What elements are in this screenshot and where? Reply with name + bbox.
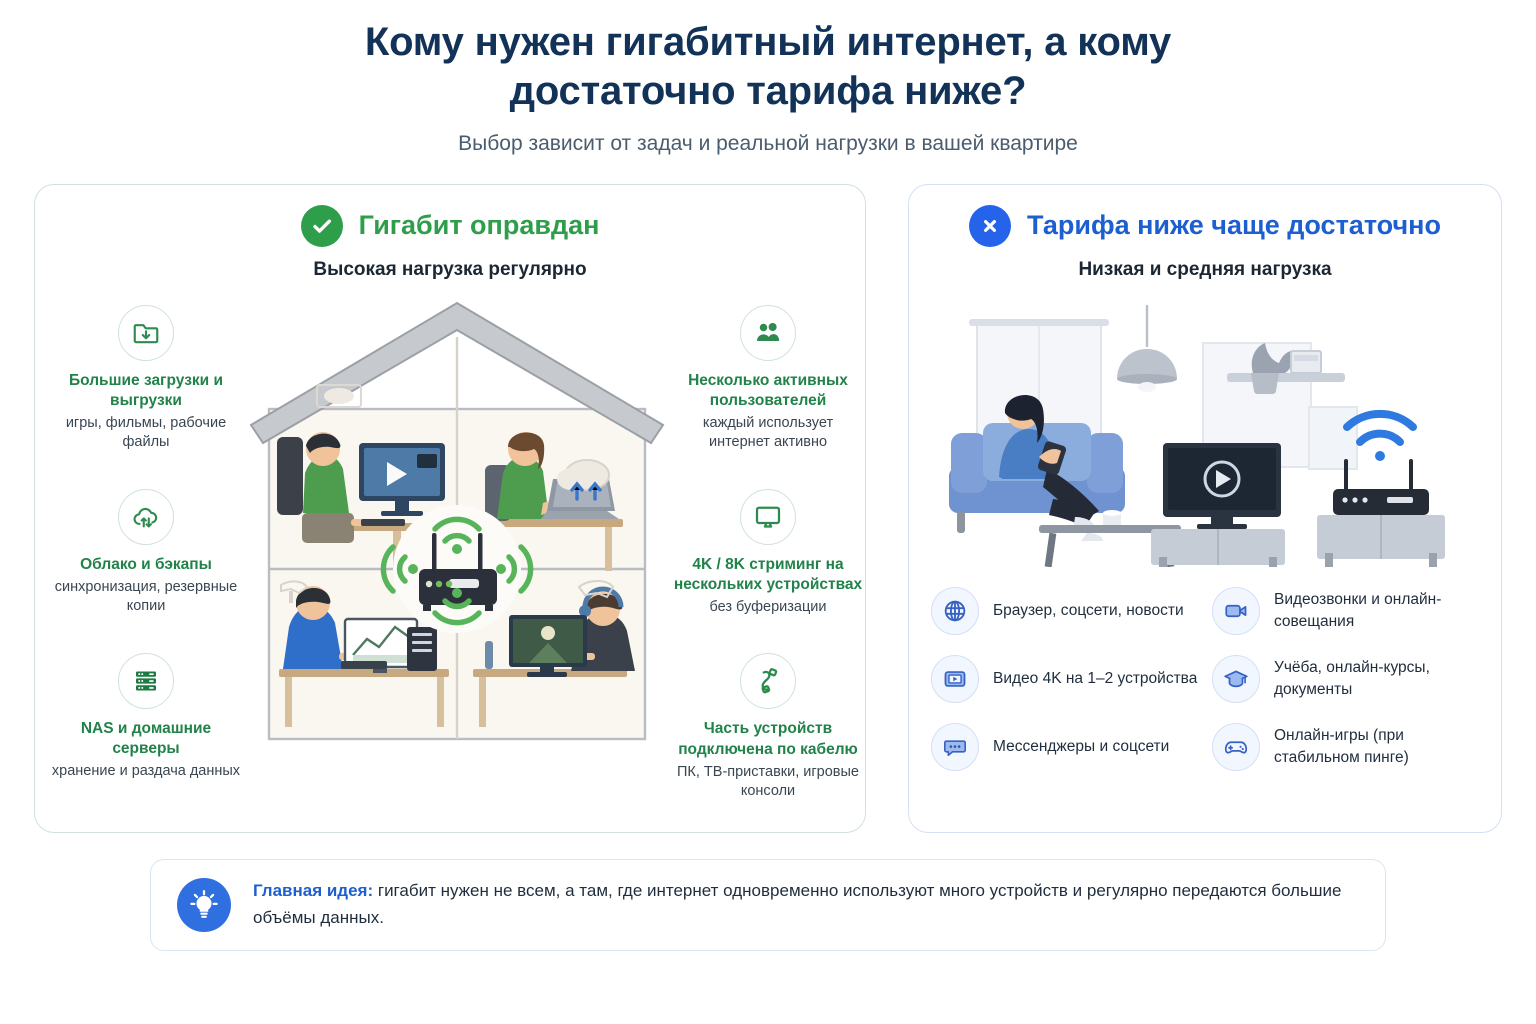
usage-label: Видео 4K на 1–2 устройства (993, 668, 1197, 689)
page-subtitle: Выбор зависит от задач и реальной нагруз… (0, 132, 1536, 156)
users-group-icon (740, 305, 796, 361)
panel-left-subtitle: Высокая нагрузка регулярно (35, 259, 865, 281)
x-circle-icon (969, 205, 1011, 247)
feature-desc: игры, фильмы, рабочие файлы (49, 414, 243, 453)
page-title: Кому нужен гигабитный интернет, а кому д… (268, 18, 1268, 116)
feature-item: Несколько активных пользователей каждый … (671, 305, 865, 453)
feature-title: Несколько активных пользователей (671, 371, 865, 411)
key-idea-callout: Главная идея: гигабит нужен не всем, а т… (150, 859, 1386, 951)
usage-label: Учёба, онлайн-курсы, документы (1274, 657, 1479, 700)
usage-item: Мессенджеры и соцсети (931, 723, 1198, 771)
feature-desc: ПК, ТВ-приставки, игровые консоли (671, 763, 865, 802)
panel-left-header: Гигабит оправдан (35, 185, 865, 247)
living-room-illustration (909, 281, 1501, 571)
feature-desc: синхронизация, резервные копии (49, 578, 243, 617)
usage-item: Браузер, соцсети, новости (931, 587, 1198, 635)
usage-item: Видеозвонки и онлайн-совещания (1212, 587, 1479, 635)
panel-right-header: Тарифа ниже чаще достаточно (909, 185, 1501, 247)
usage-item: Учёба, онлайн-курсы, документы (1212, 655, 1479, 703)
feature-item: Большие загрузки и выгрузки игры, фильмы… (49, 305, 243, 453)
feature-title: Часть устройств подключена по кабелю (671, 719, 865, 759)
gamepad-icon (1212, 723, 1260, 771)
ethernet-cable-icon (740, 653, 796, 709)
feature-item: NAS и домашние серверы хранение и раздач… (49, 653, 243, 782)
panel-gigabit-justified: Гигабит оправдан Высокая нагрузка регуля… (34, 184, 866, 833)
feature-title: Большие загрузки и выгрузки (49, 371, 243, 411)
folder-download-icon (118, 305, 174, 361)
usage-item: Онлайн-игры (при стабильном пинге) (1212, 723, 1479, 771)
infographic-page: Кому нужен гигабитный интернет, а кому д… (0, 0, 1536, 1024)
panel-right-subtitle: Низкая и средняя нагрузка (909, 259, 1501, 281)
monitor-icon (740, 489, 796, 545)
panel-left-body: Большие загрузки и выгрузки игры, фильмы… (35, 281, 865, 832)
key-idea-text: Главная идея: гигабит нужен не всем, а т… (253, 878, 1359, 931)
features-column-right: Несколько активных пользователей каждый … (671, 297, 865, 802)
feature-item: 4K / 8K стриминг на нескольких устройств… (671, 489, 865, 618)
check-circle-icon (301, 205, 343, 247)
feature-item: Облако и бэкапы синхронизация, резервные… (49, 489, 243, 617)
feature-desc: хранение и раздача данных (49, 762, 243, 781)
cloud-sync-icon (118, 489, 174, 545)
feature-title: 4K / 8K стриминг на нескольких устройств… (671, 555, 865, 595)
feature-title: Облако и бэкапы (49, 555, 243, 575)
globe-icon (931, 587, 979, 635)
usage-grid: Браузер, соцсети, новости Видеозвонки и … (909, 571, 1501, 801)
key-idea-lead: Главная идея: (253, 881, 373, 900)
graduation-cap-icon (1212, 655, 1260, 703)
header: Кому нужен гигабитный интернет, а кому д… (0, 0, 1536, 156)
feature-desc: каждый использует интернет активно (671, 414, 865, 453)
feature-title: NAS и домашние серверы (49, 719, 243, 759)
usage-label: Онлайн-игры (при стабильном пинге) (1274, 725, 1479, 768)
lightbulb-icon (177, 878, 231, 932)
wifi-router-icon (1333, 459, 1429, 515)
panel-left-title: Гигабит оправдан (359, 210, 600, 241)
server-stack-icon (118, 653, 174, 709)
chat-bubble-icon (931, 723, 979, 771)
panel-right-title: Тарифа ниже чаще достаточно (1027, 210, 1441, 241)
panel-lower-tariff-enough: Тарифа ниже чаще достаточно Низкая и сре… (908, 184, 1502, 833)
video-camera-icon (1212, 587, 1260, 635)
video-play-icon (931, 655, 979, 703)
usage-label: Видеозвонки и онлайн-совещания (1274, 589, 1479, 632)
feature-desc: без буферизации (671, 598, 865, 617)
usage-label: Браузер, соцсети, новости (993, 600, 1184, 621)
panels-row: Гигабит оправдан Высокая нагрузка регуля… (0, 156, 1536, 833)
feature-item: Часть устройств подключена по кабелю ПК,… (671, 653, 865, 801)
usage-label: Мессенджеры и соцсети (993, 736, 1169, 757)
features-column-left: Большие загрузки и выгрузки игры, фильмы… (49, 297, 243, 782)
house-cutaway-illustration (243, 297, 671, 749)
usage-item: Видео 4K на 1–2 устройства (931, 655, 1198, 703)
key-idea-body: гигабит нужен не всем, а там, где интерн… (253, 881, 1341, 926)
